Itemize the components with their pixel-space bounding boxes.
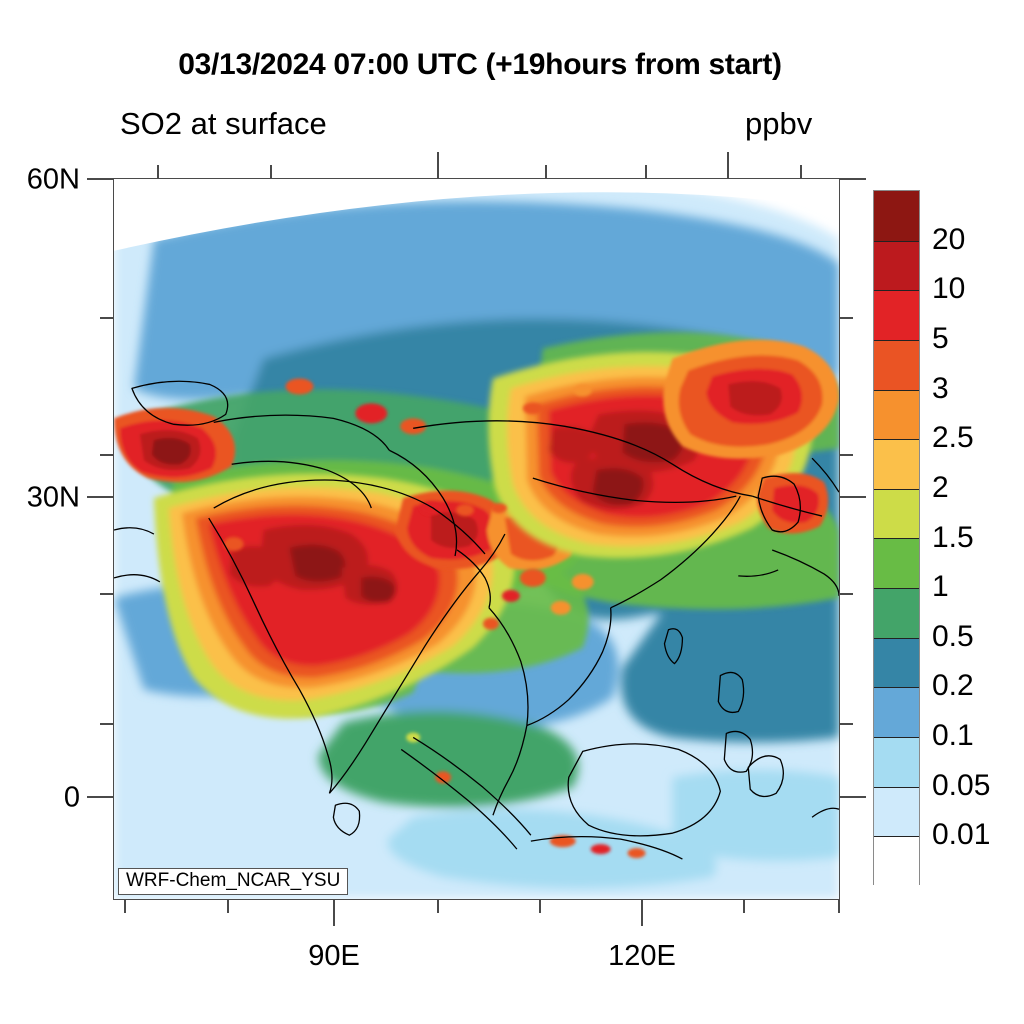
x-tick-top-5 xyxy=(800,165,802,178)
colorbar-band-12 xyxy=(874,787,919,837)
colorbar-band-4 xyxy=(874,390,919,440)
colorbar-label-0p5: 0.5 xyxy=(932,620,974,654)
page-title: 03/13/2024 07:00 UTC (+19hours from star… xyxy=(0,48,960,82)
x-tick-top-1 xyxy=(157,165,159,178)
y-axis-label-60n: 60N xyxy=(0,164,80,197)
x-tick-2 xyxy=(227,900,229,913)
x-tick-top-90e xyxy=(437,152,439,178)
variable-label: SO2 at surface xyxy=(120,106,327,142)
x-tick-5 xyxy=(743,900,745,913)
colorbar-band-11 xyxy=(874,737,919,787)
y-tick-right-2 xyxy=(840,454,853,456)
colorbar-band-5 xyxy=(874,439,919,489)
x-axis-label-120e: 120E xyxy=(562,940,722,973)
colorbar-band-8 xyxy=(874,588,919,638)
colorbar-band-7 xyxy=(874,538,919,588)
colorbar-label-1: 1 xyxy=(932,570,949,604)
units-label: ppbv xyxy=(745,106,812,142)
colorbar-label-20: 20 xyxy=(932,223,965,257)
y-tick-minor-2 xyxy=(100,454,113,456)
colorbar-label-0p01: 0.01 xyxy=(932,818,990,852)
colorbar-band-10 xyxy=(874,687,919,737)
y-axis-label-30n: 30N xyxy=(0,482,80,515)
x-tick-top-3 xyxy=(545,165,547,178)
y-tick-minor-1 xyxy=(100,317,113,319)
colorbar-band-1 xyxy=(874,241,919,291)
y-tick-right-60n xyxy=(840,178,866,180)
y-tick-minor-4 xyxy=(100,723,113,725)
colorbar-label-2: 2 xyxy=(932,471,949,505)
y-tick-right-30n xyxy=(840,496,866,498)
colorbar-band-3 xyxy=(874,340,919,390)
colorbar-label-0p05: 0.05 xyxy=(932,769,990,803)
x-axis-label-90e: 90E xyxy=(254,940,414,973)
colorbar-band-0 xyxy=(874,191,919,241)
colorbar-label-0p2: 0.2 xyxy=(932,669,974,703)
colorbar-band-13 xyxy=(874,836,919,886)
colorbar[interactable] xyxy=(873,190,920,885)
x-tick-top-4 xyxy=(645,165,647,178)
x-tick-90e xyxy=(333,900,335,926)
colorbar-label-10: 10 xyxy=(932,272,965,306)
x-tick-1 xyxy=(124,900,126,913)
y-tick-right-1 xyxy=(840,317,853,319)
x-tick-4 xyxy=(539,900,541,913)
map-plot-area[interactable]: WRF-Chem_NCAR_YSU xyxy=(113,178,840,900)
so2-concentration-heatmap xyxy=(114,179,839,899)
y-tick-minor-3 xyxy=(100,593,113,595)
colorbar-label-3: 3 xyxy=(932,372,949,406)
y-tick-0 xyxy=(87,796,113,798)
y-tick-right-4 xyxy=(840,723,853,725)
colorbar-label-2p5: 2.5 xyxy=(932,421,974,455)
x-tick-6 xyxy=(838,900,840,913)
y-tick-60n xyxy=(87,178,113,180)
colorbar-band-6 xyxy=(874,489,919,539)
x-tick-top-120e xyxy=(727,152,729,178)
y-tick-right-3 xyxy=(840,593,853,595)
x-tick-120e xyxy=(641,900,643,926)
x-tick-top-2 xyxy=(270,165,272,178)
colorbar-band-9 xyxy=(874,638,919,688)
model-stamp: WRF-Chem_NCAR_YSU xyxy=(118,868,348,895)
y-tick-right-0 xyxy=(840,796,866,798)
colorbar-label-5: 5 xyxy=(932,322,949,356)
y-tick-30n xyxy=(87,496,113,498)
y-axis-label-0: 0 xyxy=(0,782,80,815)
colorbar-label-1p5: 1.5 xyxy=(932,521,974,555)
colorbar-band-2 xyxy=(874,290,919,340)
x-tick-3 xyxy=(437,900,439,913)
colorbar-label-0p1: 0.1 xyxy=(932,719,974,753)
